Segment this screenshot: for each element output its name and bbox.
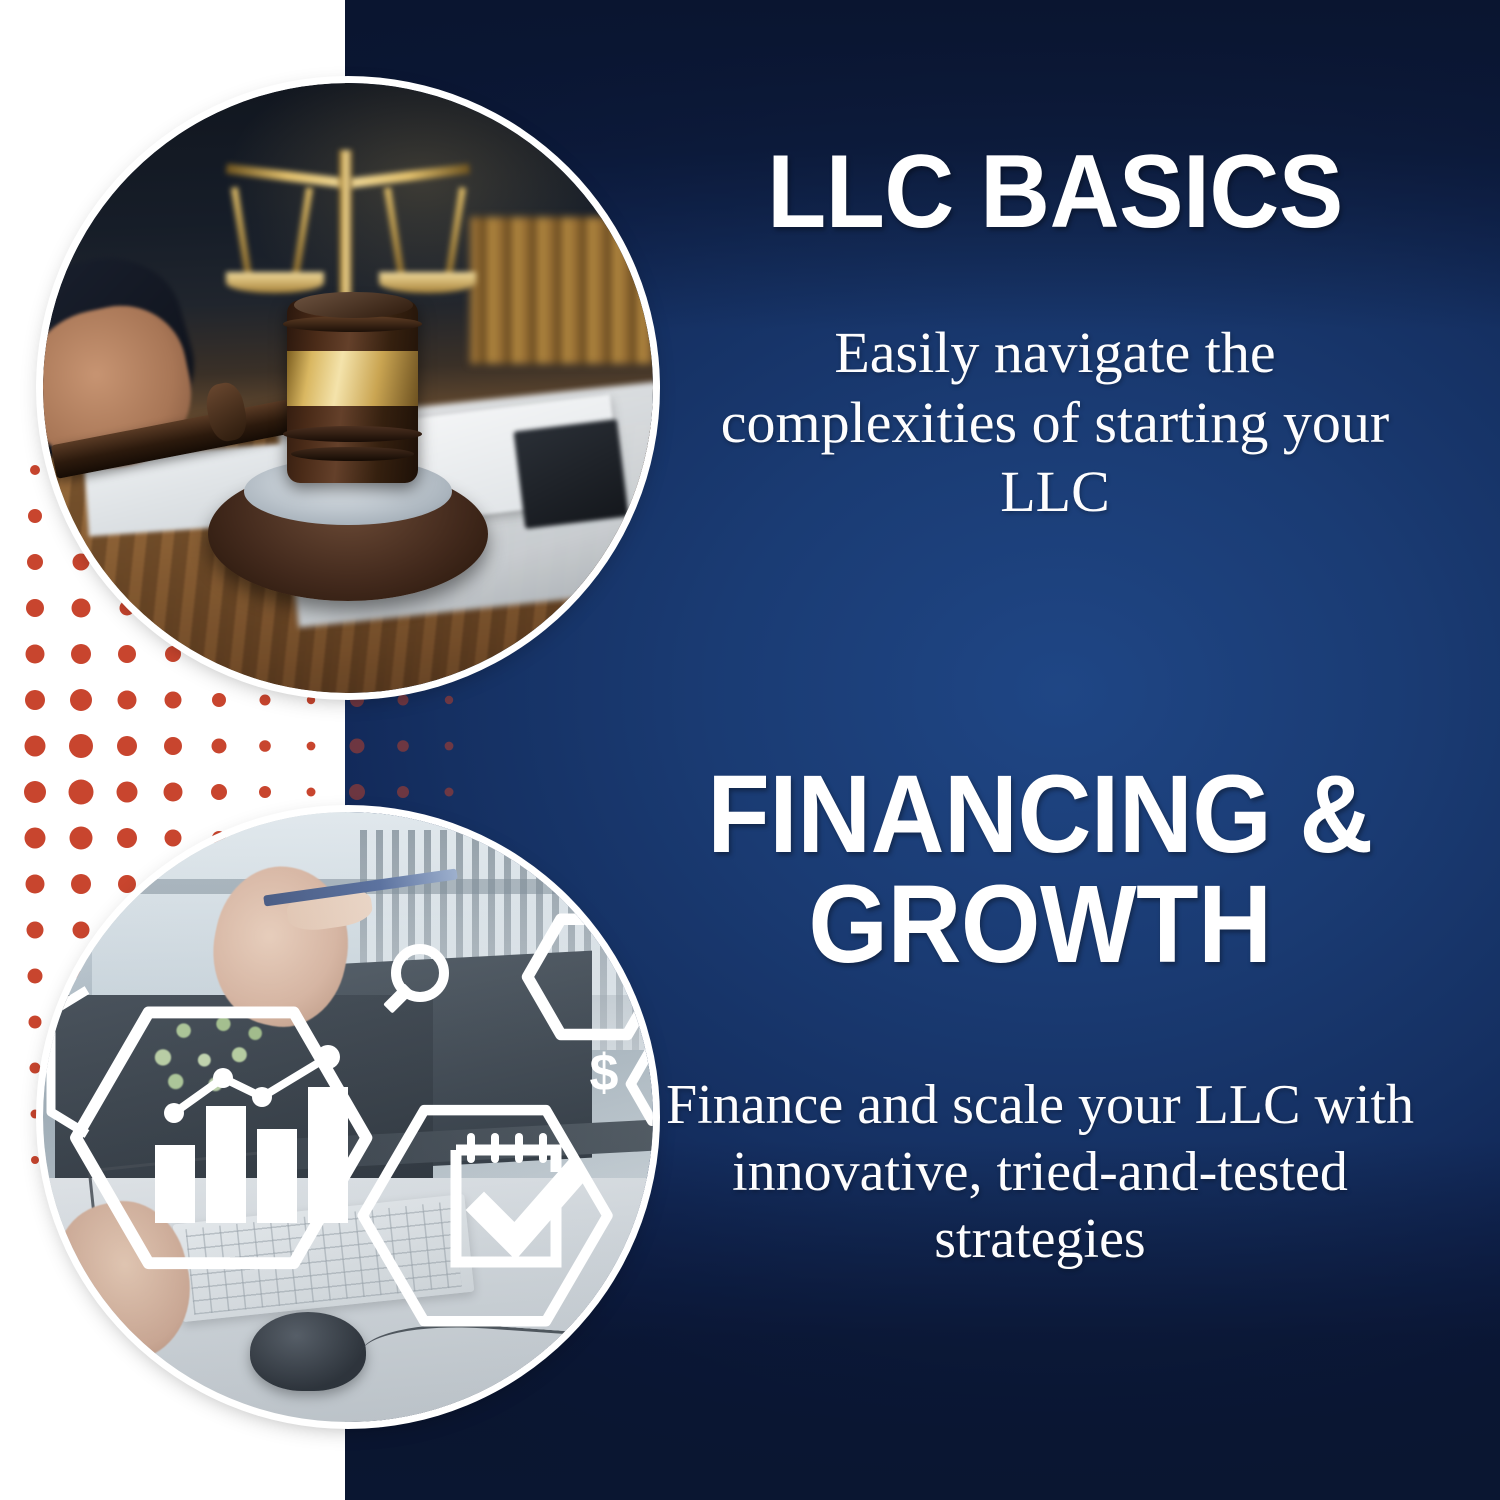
dollar-sign-icon: $ [590, 1044, 619, 1102]
subtitle-financing-growth: Finance and scale your LLC with innovati… [630, 1072, 1450, 1274]
svg-text:$: $ [590, 1044, 619, 1102]
scales-pan-right [379, 272, 477, 293]
hexagon-partial-left [51, 990, 87, 1134]
hexagon-icon-overlay: $ [43, 812, 653, 1422]
scales-chain [231, 187, 252, 278]
page-title-llc-basics: LLC BASICS [688, 140, 1423, 244]
clipboard [513, 419, 628, 529]
scales-chain [384, 187, 405, 278]
office-desk-scene: $ [43, 812, 653, 1422]
business-analytics-desk-photo: $ [43, 812, 653, 1422]
scales-beam-left [226, 164, 348, 189]
title-line-2: GROWTH [808, 863, 1271, 986]
gavel-on-desk-photo [43, 83, 653, 693]
scales-beam-right [348, 164, 470, 189]
law-office-scene [43, 83, 653, 693]
gavel-ring [283, 316, 421, 332]
financing-growth-text-block: FINANCING & GROWTH Finance and scale you… [630, 760, 1450, 1274]
poster-canvas: $ [0, 0, 1500, 1500]
scales-pan-left [226, 272, 324, 293]
line-graph-icon [174, 1057, 328, 1113]
title-line-1: FINANCING & [707, 753, 1372, 876]
checklist-checkmark-icon [456, 1137, 571, 1262]
gavel-ring [291, 447, 415, 462]
subtitle-llc-basics: Easily navigate the complexities of star… [660, 318, 1450, 527]
law-books-blur [470, 217, 653, 363]
gavel-gold-band [287, 351, 418, 406]
llc-basics-text-block: LLC BASICS Easily navigate the complexit… [660, 140, 1450, 527]
page-title-financing-growth: FINANCING & GROWTH [659, 760, 1422, 980]
magnifier-icon [383, 949, 444, 1014]
scales-chain [445, 187, 466, 278]
gavel-top-cap [294, 292, 412, 319]
scales-chain [292, 187, 313, 278]
